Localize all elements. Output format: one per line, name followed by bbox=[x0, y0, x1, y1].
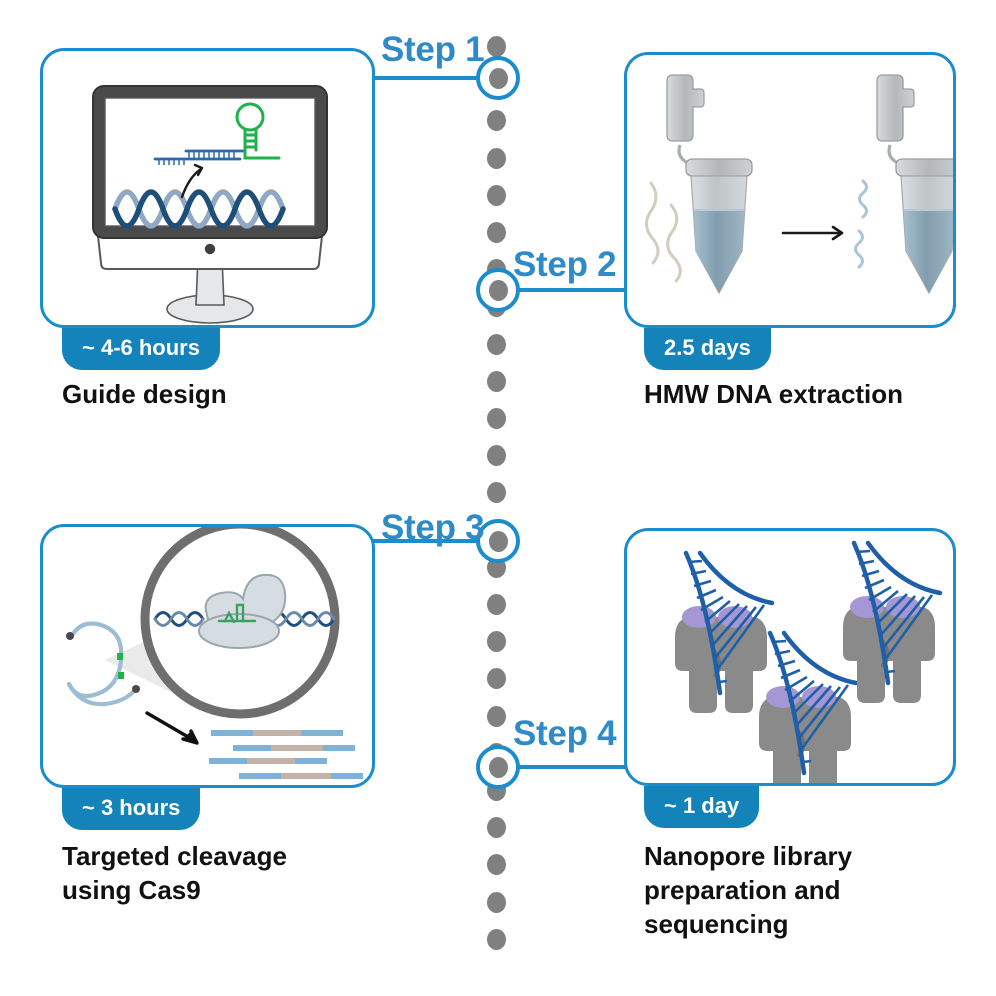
timeline-dot bbox=[487, 892, 506, 913]
step-2-caption: HMW DNA extraction bbox=[644, 378, 903, 412]
step-label-4: Step 4 bbox=[513, 714, 616, 754]
motor-protein-complex-1 bbox=[675, 553, 772, 713]
step-3-card[interactable] bbox=[40, 524, 375, 788]
step-3-caption: Targeted cleavage using Cas9 bbox=[62, 840, 287, 908]
computer-monitor-icon bbox=[43, 51, 372, 325]
step-2-duration-pill: 2.5 days bbox=[644, 328, 771, 370]
timeline-dot bbox=[487, 445, 506, 466]
cleaved-dna-fragments bbox=[209, 733, 363, 776]
step-3-duration-pill: ~ 3 hours bbox=[62, 788, 200, 830]
workflow-figure: Step 1 Step 2 Step 3 Step 4 bbox=[0, 0, 996, 996]
timeline-node-core bbox=[489, 280, 508, 301]
connector-step-1 bbox=[372, 76, 480, 80]
process-arrow bbox=[783, 227, 842, 239]
timeline-dot bbox=[487, 817, 506, 838]
timeline-dot bbox=[487, 668, 506, 689]
timeline-dot bbox=[487, 36, 506, 57]
timeline-dot bbox=[487, 929, 506, 950]
tube-left bbox=[667, 75, 752, 293]
step-label-1: Step 1 bbox=[381, 30, 484, 70]
step-1-card[interactable] bbox=[40, 48, 375, 328]
timeline-dot bbox=[487, 148, 506, 169]
nanopore-motor-proteins-icon bbox=[627, 531, 953, 783]
timeline-dot bbox=[487, 185, 506, 206]
dna-end-marker bbox=[66, 632, 74, 640]
connector-step-4 bbox=[516, 765, 628, 769]
connector-step-2 bbox=[516, 288, 628, 292]
step-2-card[interactable] bbox=[624, 52, 956, 328]
timeline-dot bbox=[487, 482, 506, 503]
step-label-3: Step 3 bbox=[381, 508, 484, 548]
step-4-card[interactable] bbox=[624, 528, 956, 786]
timeline-dot bbox=[487, 222, 506, 243]
timeline-dot bbox=[487, 408, 506, 429]
timeline-dotted-line bbox=[487, 36, 509, 946]
timeline-node-core bbox=[489, 531, 508, 552]
timeline-dot bbox=[487, 706, 506, 727]
timeline-dot bbox=[487, 631, 506, 652]
timeline-node-core bbox=[489, 68, 508, 89]
cleavage-arrow bbox=[147, 713, 197, 743]
cut-site-marker bbox=[117, 653, 123, 660]
purified-dna-fragments bbox=[856, 181, 867, 267]
step-4-duration-pill: ~ 1 day bbox=[644, 786, 759, 828]
timeline-dot bbox=[487, 854, 506, 875]
timeline-dot bbox=[487, 594, 506, 615]
cut-site-marker bbox=[118, 672, 124, 679]
tube-right bbox=[877, 75, 953, 293]
step-3-illustration bbox=[43, 527, 372, 785]
microcentrifuge-tubes-icon bbox=[627, 55, 953, 325]
timeline-dot bbox=[487, 371, 506, 392]
step-2-illustration bbox=[627, 55, 953, 325]
cas9-cleavage-icon bbox=[43, 527, 372, 785]
timeline-dot bbox=[487, 334, 506, 355]
hmw-dna-strands bbox=[646, 183, 680, 281]
step-1-caption: Guide design bbox=[62, 378, 227, 412]
step-1-illustration bbox=[43, 51, 372, 325]
step-1-duration-pill: ~ 4-6 hours bbox=[62, 328, 220, 370]
step-4-caption: Nanopore library preparation and sequenc… bbox=[644, 840, 852, 941]
motor-protein-complex-2 bbox=[759, 633, 856, 783]
dna-end-marker bbox=[132, 685, 140, 693]
step-4-illustration bbox=[627, 531, 953, 783]
timeline-node-core bbox=[489, 757, 508, 778]
step-label-2: Step 2 bbox=[513, 245, 616, 285]
motor-protein-complex-3 bbox=[843, 543, 940, 703]
timeline-dot bbox=[487, 110, 506, 131]
